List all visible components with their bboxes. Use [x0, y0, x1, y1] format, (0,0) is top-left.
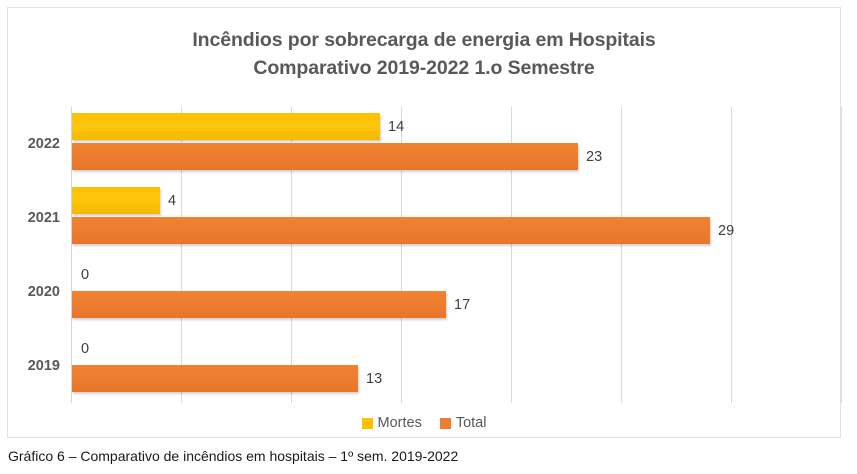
gridline: [841, 107, 842, 403]
bar-row: 429: [72, 181, 841, 255]
chart-frame: Incêndios por sobrecarga de energia em H…: [7, 7, 841, 438]
data-label-total-2022: 23: [586, 149, 602, 165]
category-label-2021: 2021: [28, 181, 60, 255]
category-label-2020: 2020: [28, 255, 60, 329]
bar-total-2022[interactable]: [72, 143, 578, 170]
bar-row: 017: [72, 255, 841, 329]
bar-total-2019[interactable]: [72, 365, 358, 392]
data-label-total-2020: 17: [454, 297, 470, 313]
bar-group-total-2019: 13: [72, 365, 382, 392]
legend-item-mortes[interactable]: Mortes: [362, 415, 422, 431]
bar-group-total-2020: 17: [72, 291, 470, 318]
legend-swatch-mortes-icon: [362, 418, 373, 429]
chart-screenshot: Incêndios por sobrecarga de energia em H…: [0, 0, 857, 474]
category-label-2022: 2022: [28, 107, 60, 181]
bar-group-total-2021: 29: [72, 217, 734, 244]
bar-group-mortes-2021: 4: [72, 187, 176, 214]
chart-legend: MortesTotal: [8, 415, 840, 431]
data-label-total-2021: 29: [718, 223, 734, 239]
chart-title-line1: Incêndios por sobrecarga de energia em H…: [192, 29, 655, 51]
chart-title: Incêndios por sobrecarga de energia em H…: [8, 26, 840, 82]
plot-area: 1423429017013: [71, 107, 841, 403]
data-label-total-2019: 13: [366, 371, 382, 387]
bar-row: 013: [72, 329, 841, 403]
bar-row: 1423: [72, 107, 841, 181]
legend-label-total: Total: [456, 415, 487, 431]
bar-rows: 1423429017013: [72, 107, 841, 403]
bar-mortes-2021[interactable]: [72, 187, 160, 214]
data-label-mortes-2019: 0: [81, 341, 89, 357]
category-label-2019: 2019: [28, 329, 60, 403]
legend-item-total[interactable]: Total: [440, 415, 487, 431]
category-axis-labels: 2022202120202019: [8, 107, 68, 403]
bar-group-mortes-2019: 0: [72, 335, 89, 362]
data-label-mortes-2021: 4: [168, 193, 176, 209]
bar-group-mortes-2022: 14: [72, 113, 404, 140]
figure-caption: Gráfico 6 – Comparativo de incêndios em …: [8, 448, 458, 464]
data-label-mortes-2022: 14: [388, 119, 404, 135]
bar-total-2021[interactable]: [72, 217, 710, 244]
bar-group-mortes-2020: 0: [72, 261, 89, 288]
bar-group-total-2022: 23: [72, 143, 602, 170]
data-label-mortes-2020: 0: [81, 267, 89, 283]
legend-label-mortes: Mortes: [378, 415, 422, 431]
legend-swatch-total-icon: [440, 418, 451, 429]
bar-mortes-2022[interactable]: [72, 113, 380, 140]
bar-total-2020[interactable]: [72, 291, 446, 318]
chart-title-line2: Comparativo 2019-2022 1.o Semestre: [8, 54, 840, 82]
